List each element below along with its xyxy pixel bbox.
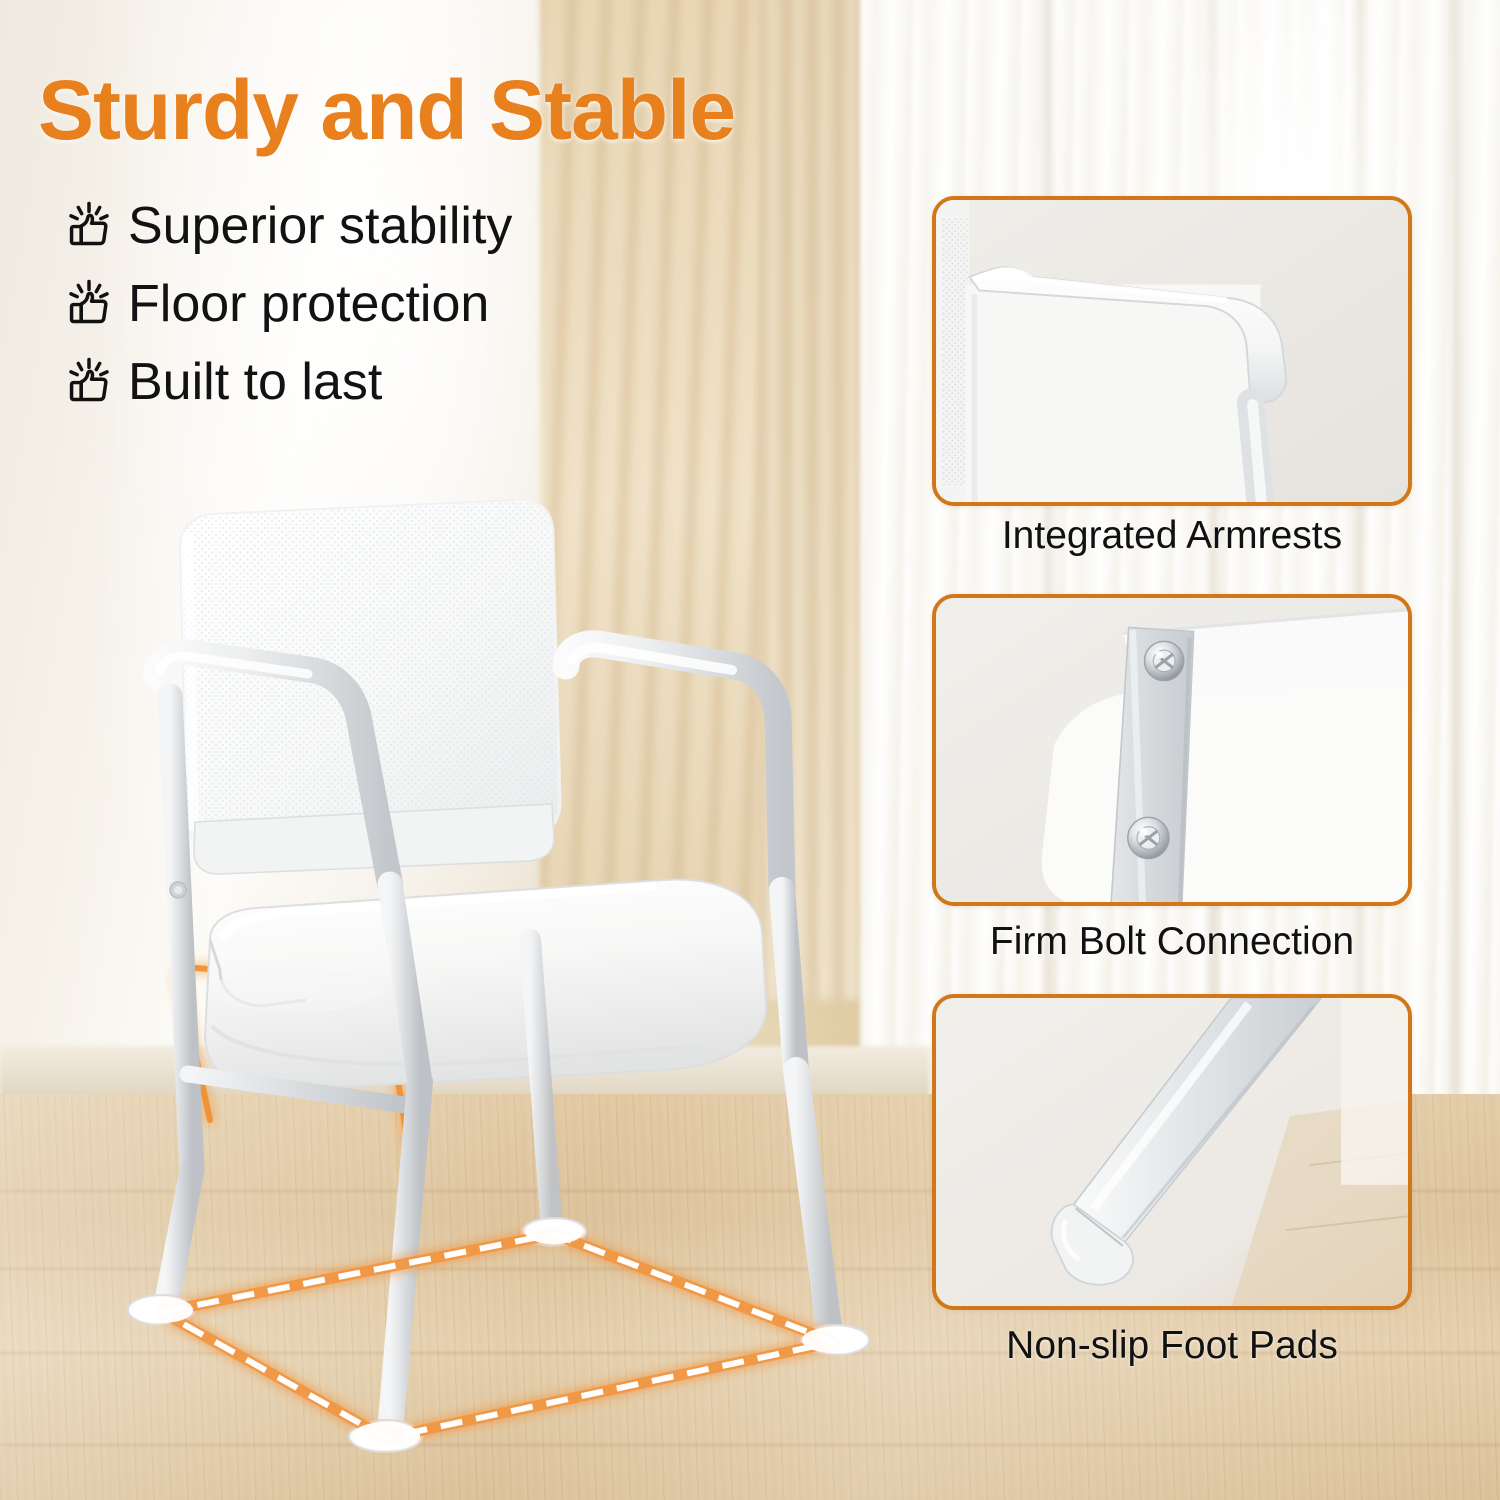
- chair-armrest-closeup-photo: [936, 200, 1408, 505]
- stability-outline-dashed: [162, 1234, 834, 1438]
- thumbs-up-icon: [62, 277, 116, 331]
- callout-photo-frame: [932, 994, 1412, 1310]
- stability-outline-glow: [162, 1234, 834, 1438]
- thumbs-up-icon: [62, 199, 116, 253]
- hero-chair-photo: [60, 470, 920, 1490]
- callout-label: Non-slip Foot Pads: [932, 1324, 1412, 1368]
- list-item: Superior stability: [62, 190, 512, 262]
- thumbs-up-icon: [62, 355, 116, 409]
- bolt-lower: [1128, 817, 1169, 858]
- list-item-label: Superior stability: [128, 196, 512, 256]
- chair-seat-cushion: [205, 880, 766, 1091]
- callout-photo-frame: [932, 196, 1412, 506]
- page-title: Sturdy and Stable: [38, 62, 735, 159]
- callout-label: Integrated Armrests: [932, 514, 1412, 558]
- curtain-fold: [1448, 0, 1464, 1190]
- feature-bullet-list: Superior stability Floor protection: [62, 190, 512, 424]
- chair-bolt-bracket-closeup-photo: [936, 598, 1408, 905]
- list-item: Built to last: [62, 346, 512, 418]
- chair-leg-foot-pad-closeup-photo: [936, 998, 1408, 1309]
- list-item-label: Built to last: [128, 352, 382, 412]
- list-item: Floor protection: [62, 268, 512, 340]
- callout-photo-frame: [932, 594, 1412, 906]
- callout-label: Firm Bolt Connection: [932, 920, 1412, 964]
- bolt-upper: [1144, 641, 1183, 680]
- list-item-label: Floor protection: [128, 274, 489, 334]
